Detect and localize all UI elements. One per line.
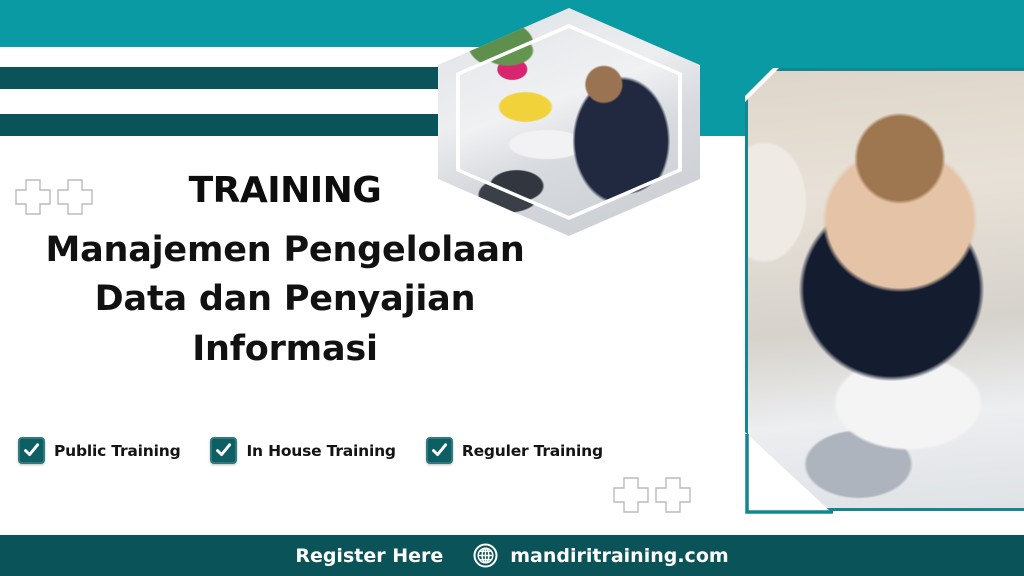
checkbox-checked-icon[interactable] <box>426 437 453 464</box>
training-poster: TRAINING Manajemen Pengelolaan Data dan … <box>0 0 1024 576</box>
badge-label: Reguler Training <box>462 442 603 460</box>
training-type-badges: Public Training In House Training Regule… <box>18 437 603 464</box>
globe-icon <box>473 543 498 568</box>
x-mark-icon <box>654 476 692 514</box>
x-decoration-bottom <box>612 476 692 514</box>
badge-in-house-training[interactable]: In House Training <box>210 437 395 464</box>
headline: Manajemen Pengelolaan Data dan Penyajian… <box>0 226 570 375</box>
x-mark-icon <box>612 476 650 514</box>
footer-bar: Register Here mandiritraining.com <box>0 535 1024 576</box>
badge-label: In House Training <box>246 442 395 460</box>
headline-line-3: Informasi <box>0 325 570 375</box>
band-light-left <box>0 0 489 47</box>
headline-line-1: Manajemen Pengelolaan <box>0 226 570 276</box>
title-block: TRAINING Manajemen Pengelolaan Data dan … <box>0 172 570 375</box>
checkbox-checked-icon[interactable] <box>210 437 237 464</box>
badge-public-training[interactable]: Public Training <box>18 437 180 464</box>
main-photo <box>745 68 1024 511</box>
kicker-training: TRAINING <box>0 172 570 210</box>
main-photo-image <box>748 71 1024 508</box>
badge-label: Public Training <box>54 442 180 460</box>
badge-reguler-training[interactable]: Reguler Training <box>426 437 603 464</box>
headline-line-2: Data dan Penyajian <box>0 275 570 325</box>
checkbox-checked-icon[interactable] <box>18 437 45 464</box>
website-url[interactable]: mandiritraining.com <box>510 545 728 567</box>
register-here-label[interactable]: Register Here <box>295 545 443 567</box>
website-group[interactable]: mandiritraining.com <box>473 543 728 568</box>
